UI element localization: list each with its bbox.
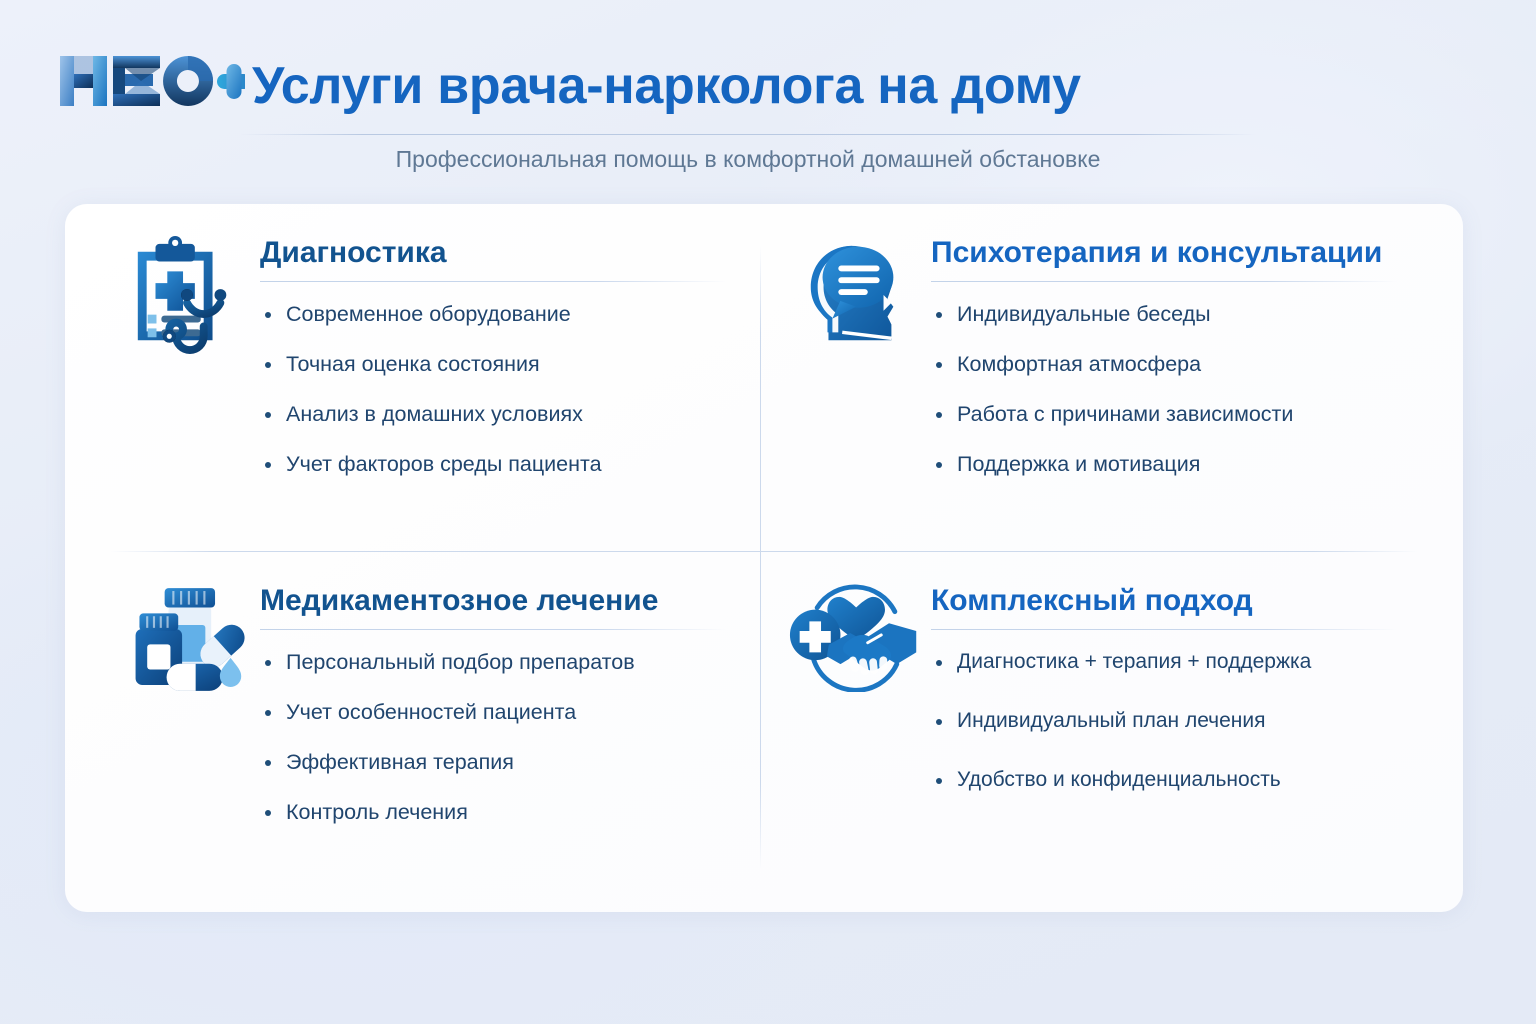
clipboard-stethoscope-icon [110, 224, 260, 551]
service-card-diagnostika[interactable]: Диагностика Современное оборудование Точ… [110, 224, 760, 551]
card-feature-list: Индивидуальные беседы Комфортная атмосфе… [931, 300, 1431, 478]
list-item: Анализ в домашних условиях [260, 400, 760, 428]
list-item: Современное оборудование [260, 300, 760, 328]
page-subtitle: Профессиональная помощь в комфортной дом… [240, 146, 1256, 173]
list-item: Контроль лечения [260, 798, 760, 826]
list-item: Диагностика + терапия + поддержка [931, 648, 1431, 676]
list-item: Эффективная терапия [260, 748, 760, 776]
list-item: Индивидуальные беседы [931, 300, 1431, 328]
services-panel: Диагностика Современное оборудование Точ… [65, 204, 1463, 912]
service-card-medikamentoznoe-lechenie[interactable]: Медикаментозное лечение Персональный под… [110, 572, 760, 899]
list-item: Индивидуальный план лечения [931, 707, 1431, 735]
card-body: Диагностика Современное оборудование Точ… [260, 224, 760, 551]
card-body: Медикаментозное лечение Персональный под… [260, 572, 760, 899]
list-item: Поддержка и мотивация [931, 450, 1431, 478]
list-item: Персональный подбор препаратов [260, 648, 760, 676]
card-heading-rule [931, 629, 1397, 630]
head-speech-bubble-icon [781, 224, 931, 551]
list-item: Учет факторов среды пациента [260, 450, 760, 478]
panel-horizontal-divider [110, 551, 1418, 552]
page-header: Услуги врача-нарколога на дому Профессио… [0, 0, 1536, 196]
card-heading-rule [260, 281, 726, 282]
list-item: Точная оценка состояния [260, 350, 760, 378]
card-heading: Психотерапия и консультации [931, 234, 1431, 272]
card-feature-list: Диагностика + терапия + поддержка Индиви… [931, 648, 1431, 794]
neo-plus-logo [55, 48, 245, 114]
card-feature-list: Современное оборудование Точная оценка с… [260, 300, 760, 478]
card-feature-list: Персональный подбор препаратов Учет особ… [260, 648, 760, 826]
pills-bottles-icon [110, 572, 260, 899]
card-heading-rule [260, 629, 726, 630]
service-card-kompleksnyy-podhod[interactable]: Комплексный подход Диагностика + терапия… [781, 572, 1431, 899]
card-heading: Медикаментозное лечение [260, 582, 760, 620]
card-heading-rule [931, 281, 1397, 282]
heart-handshake-cross-icon [781, 572, 931, 899]
card-heading: Диагностика [260, 234, 760, 272]
card-heading: Комплексный подход [931, 582, 1431, 620]
card-body: Комплексный подход Диагностика + терапия… [931, 572, 1431, 899]
list-item: Удобство и конфиденциальность [931, 766, 1431, 794]
header-divider [240, 134, 1256, 135]
page-title: Услуги врача-нарколога на дому [252, 50, 1262, 122]
list-item: Учет особенностей пациента [260, 698, 760, 726]
list-item: Комфортная атмосфера [931, 350, 1431, 378]
card-body: Психотерапия и консультации Индивидуальн… [931, 224, 1431, 551]
panel-vertical-divider [760, 246, 761, 870]
service-card-psihoterapiya[interactable]: Психотерапия и консультации Индивидуальн… [781, 224, 1431, 551]
list-item: Работа с причинами зависимости [931, 400, 1431, 428]
